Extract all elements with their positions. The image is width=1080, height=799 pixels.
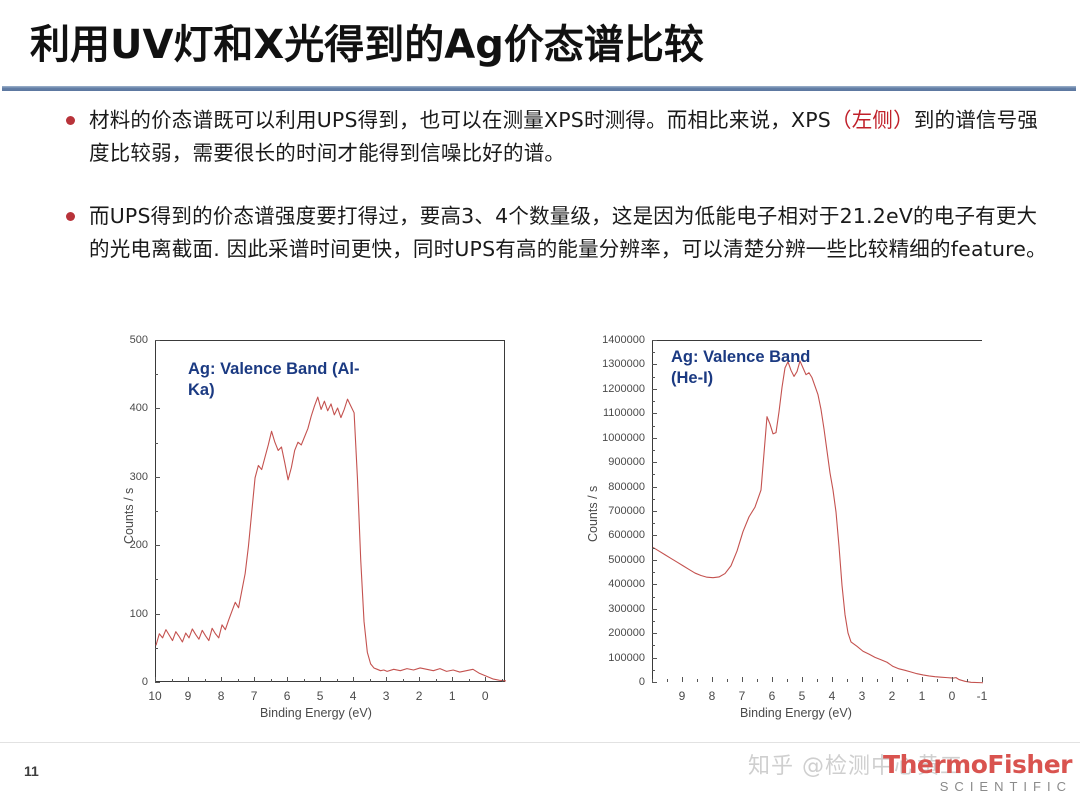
y-tick-mark [652,413,657,414]
y-tick-mark [155,408,160,409]
y-tick-label: 200000 [580,627,645,639]
x-tick-mark-minor [436,679,437,682]
y-tick-label: 100 [110,608,148,620]
y-tick-mark [652,633,657,634]
x-tick-mark [772,677,773,682]
chart-title-ups-line2: (He-I) [671,368,810,389]
y-tick-label: 1300000 [580,358,645,370]
x-tick-mark-minor [652,679,653,682]
x-tick-mark [892,677,893,682]
x-tick-mark [353,677,354,682]
chart-title-xps: Ag: Valence Band (Al- Ka) [188,359,359,401]
y-tick-mark [155,614,160,615]
x-tick-label: 2 [416,689,423,703]
x-tick-mark-minor [757,679,758,682]
bullet-item: 材料的价态谱既可以利用UPS得到，也可以在测量XPS时测得。而相比来说，XPS（… [0,104,1080,170]
x-tick-mark [712,677,713,682]
logo-tagline: SCIENTIFIC [832,778,1072,795]
x-tick-mark [832,677,833,682]
y-tick-mark-minor [652,621,655,622]
y-tick-mark-minor [155,374,158,375]
chart-title-ups: Ag: Valence Band (He-I) [671,347,810,389]
x-tick-label: 8 [218,689,225,703]
y-tick-label: 1000000 [580,432,645,444]
x-tick-label: 3 [859,689,866,703]
x-tick-label: 0 [949,689,956,703]
slide-root: 利用UV灯和X光得到的Ag价态谱比较 材料的价态谱既可以利用UPS得到，也可以在… [0,0,1080,799]
y-tick-mark [652,658,657,659]
y-tick-mark-minor [652,645,655,646]
x-tick-label: 2 [889,689,896,703]
y-tick-mark-minor [652,474,655,475]
x-axis-title-xps: Binding Energy (eV) [260,706,372,720]
bullet-1-part-1: 材料的价态谱既可以利用UPS得到，也可以在测量XPS时测得。而相比来说，XPS [89,108,831,132]
chart-title-xps-line1: Ag: Valence Band (Al- [188,359,359,380]
x-tick-mark-minor [502,679,503,682]
x-tick-mark-minor [271,679,272,682]
y-tick-mark [652,389,657,390]
y-tick-label: 400000 [580,578,645,590]
x-tick-mark-minor [172,679,173,682]
y-tick-mark-minor [155,511,158,512]
bullet-2-part-1: 而UPS得到的价态谱强度要打得过，要高3、4个数量级，这是因为低能电子相对于21… [89,204,1047,261]
y-tick-mark [155,340,160,341]
x-tick-mark-minor [817,679,818,682]
x-tick-mark [155,677,156,682]
y-tick-mark [652,535,657,536]
y-tick-mark [652,584,657,585]
y-tick-label: 400 [110,402,148,414]
y-tick-mark-minor [155,648,158,649]
page-title: 利用UV灯和X光得到的Ag价态谱比较 [30,12,704,70]
x-tick-mark-minor [403,679,404,682]
x-tick-mark [188,677,189,682]
y-tick-mark [652,560,657,561]
thermofisher-logo: ThermoFisher SCIENTIFIC [832,752,1072,795]
y-tick-label: 100000 [580,652,645,664]
y-tick-label: 500 [110,334,148,346]
y-tick-mark [652,438,657,439]
x-tick-mark [386,677,387,682]
x-tick-mark [682,677,683,682]
x-tick-mark [320,677,321,682]
y-tick-label: 1200000 [580,383,645,395]
plot-area-ups: Ag: Valence Band (He-I) [652,340,982,682]
bullet-text: 材料的价态谱既可以利用UPS得到，也可以在测量XPS时测得。而相比来说，XPS（… [89,104,1052,170]
x-tick-label: 10 [148,689,161,703]
y-tick-label: 900000 [580,456,645,468]
x-tick-mark [485,677,486,682]
x-tick-mark-minor [337,679,338,682]
x-tick-mark-minor [907,679,908,682]
y-tick-mark-minor [652,426,655,427]
bullet-marker-icon [66,116,75,125]
x-tick-label: 0 [482,689,489,703]
slide-body: 材料的价态谱既可以利用UPS得到，也可以在测量XPS时测得。而相比来说，XPS（… [0,104,1080,266]
x-tick-label: 7 [739,689,746,703]
x-tick-label: 8 [709,689,716,703]
y-tick-mark-minor [652,548,655,549]
y-tick-label: 0 [580,676,645,688]
y-tick-label: 1100000 [580,407,645,419]
x-tick-mark-minor [370,679,371,682]
slide-header: 利用UV灯和X光得到的Ag价态谱比较 [0,0,1080,90]
x-axis-title-ups: Binding Energy (eV) [740,706,852,720]
x-tick-mark-minor [727,679,728,682]
y-tick-mark-minor [652,572,655,573]
ups-spectrum-line [653,341,983,683]
x-tick-mark-minor [787,679,788,682]
y-tick-label: 1400000 [580,334,645,346]
x-tick-mark [254,677,255,682]
y-tick-mark-minor [652,670,655,671]
bullet-marker-icon [66,212,75,221]
x-tick-mark [982,677,983,682]
x-tick-mark [922,677,923,682]
page-number: 11 [24,763,39,779]
x-tick-mark-minor [967,679,968,682]
x-tick-mark [287,677,288,682]
x-tick-mark-minor [937,679,938,682]
y-tick-mark-minor [652,523,655,524]
x-tick-mark-minor [469,679,470,682]
chart-xps-valence-band: Ag: Valence Band (Al- Ka) 01002003004005… [110,334,510,726]
x-tick-mark [952,677,953,682]
x-tick-mark [419,677,420,682]
x-tick-label: 3 [383,689,390,703]
y-tick-mark [652,511,657,512]
x-tick-mark-minor [877,679,878,682]
x-tick-mark-minor [697,679,698,682]
y-tick-mark-minor [652,597,655,598]
y-tick-mark [652,364,657,365]
x-tick-mark [802,677,803,682]
y-tick-mark [652,462,657,463]
x-tick-label: 4 [829,689,836,703]
y-tick-mark [652,340,657,341]
x-tick-label: 5 [317,689,324,703]
logo-wordmark: ThermoFisher [832,752,1072,777]
bullet-1-highlight: （左侧） [831,108,914,132]
x-tick-label: -1 [977,689,988,703]
y-tick-mark [652,487,657,488]
y-tick-mark-minor [652,401,655,402]
x-tick-label: 7 [251,689,258,703]
y-tick-mark-minor [155,443,158,444]
x-tick-mark-minor [205,679,206,682]
y-axis-title-xps: Counts / s [122,488,136,544]
x-tick-mark [862,677,863,682]
y-tick-label: 300 [110,471,148,483]
y-tick-mark-minor [652,352,655,353]
x-tick-mark-minor [667,679,668,682]
x-tick-label: 6 [769,689,776,703]
bullet-item: 而UPS得到的价态谱强度要打得过，要高3、4个数量级，这是因为低能电子相对于21… [0,200,1080,266]
x-tick-label: 1 [449,689,456,703]
x-tick-mark [452,677,453,682]
y-tick-mark [155,682,160,683]
y-tick-label: 300000 [580,603,645,615]
y-tick-mark-minor [652,377,655,378]
x-tick-mark-minor [238,679,239,682]
x-tick-mark [221,677,222,682]
plot-area-xps: Ag: Valence Band (Al- Ka) [155,340,505,682]
x-tick-label: 5 [799,689,806,703]
chart-ups-valence-band: Ag: Valence Band (He-I) 0100000200000300… [580,334,990,726]
y-tick-mark-minor [155,579,158,580]
y-tick-mark [155,477,160,478]
y-tick-mark [652,682,657,683]
x-tick-label: 6 [284,689,291,703]
x-tick-mark-minor [304,679,305,682]
x-tick-mark-minor [847,679,848,682]
x-tick-label: 1 [919,689,926,703]
bullet-text: 而UPS得到的价态谱强度要打得过，要高3、4个数量级，这是因为低能电子相对于21… [89,200,1052,266]
x-tick-mark [742,677,743,682]
y-axis-title-ups: Counts / s [586,486,600,542]
title-divider [2,86,1076,91]
x-tick-label: 9 [185,689,192,703]
chart-title-ups-line1: Ag: Valence Band [671,347,810,368]
y-tick-mark-minor [652,499,655,500]
y-tick-mark-minor [652,450,655,451]
x-tick-label: 4 [350,689,357,703]
y-tick-label: 500000 [580,554,645,566]
y-tick-mark [652,609,657,610]
x-tick-label: 9 [679,689,686,703]
y-tick-mark [155,545,160,546]
chart-title-xps-line2: Ka) [188,380,359,401]
y-tick-label: 0 [110,676,148,688]
